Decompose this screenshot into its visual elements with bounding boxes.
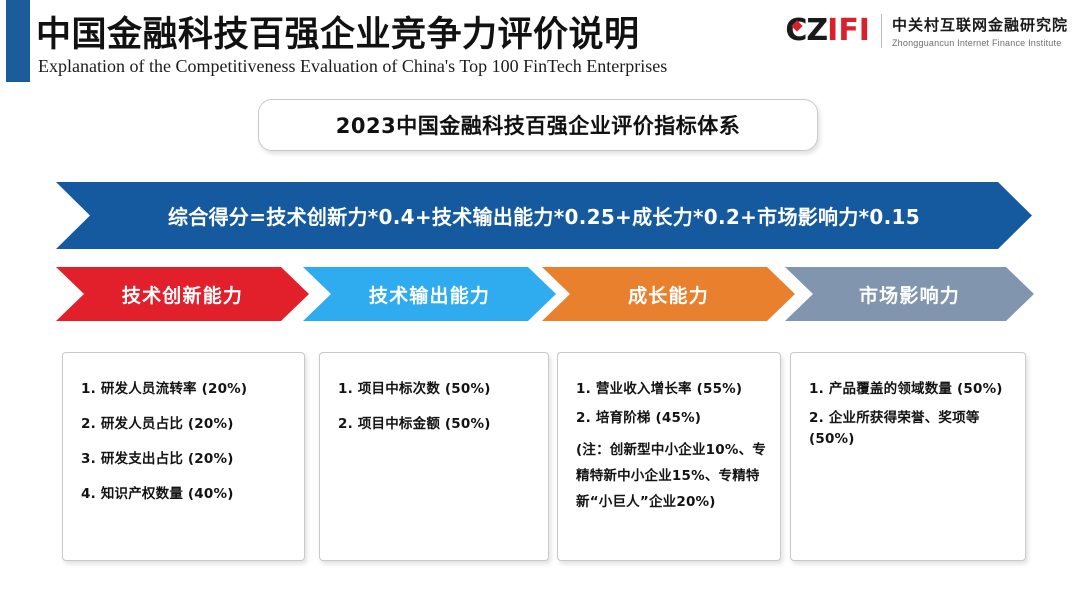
logo-letter-z: Z [806,16,827,46]
detail-box-growth: 1. 营业收入增长率 (55%) 2. 培育阶梯 (45%) (注：创新型中小企… [557,352,781,561]
category-chevron-market-influence[interactable]: 市场影响力 [785,267,1034,321]
category-chevron-growth[interactable]: 成长能力 [542,267,795,321]
detail-item: 1. 研发人员流转率 (20%) [81,379,290,400]
institute-logo: C Z IFI 中关村互联网金融研究院 Zhongguancun Interne… [785,10,1068,52]
detail-item: 1. 产品覆盖的领域数量 (50%) [809,379,1011,400]
czifi-logo-icon: C Z IFI [785,15,870,47]
category-chevron-tech-innovation[interactable]: 技术创新能力 [56,267,309,321]
logo-letters-ifi: IFI [827,16,870,46]
section-title-box: 2023中国金融科技百强企业评价指标体系 [258,99,818,151]
category-label: 技术输出能力 [369,281,490,308]
detail-item: 2. 培育阶梯 (45%) [576,408,766,429]
section-title-text: 2023中国金融科技百强企业评价指标体系 [336,110,740,140]
detail-item: 2. 企业所获得荣誉、奖项等 (50%) [809,408,1011,450]
page-title-chinese: 中国金融科技百强企业竞争力评价说明 [36,6,640,57]
page-title-english: Explanation of the Competitiveness Evalu… [38,56,667,77]
detail-box-tech-output: 1. 项目中标次数 (50%) 2. 项目中标金额 (50%) [319,352,549,561]
detail-item: 1. 营业收入增长率 (55%) [576,379,766,400]
header-accent-bar [6,0,30,82]
score-formula-text: 综合得分=技术创新力*0.4+技术输出能力*0.25+成长力*0.2+市场影响力… [168,201,920,230]
detail-item-note: (注：创新型中小企业10%、专精特新中小企业15%、专精特新“小巨人”企业20%… [576,437,766,516]
detail-item: 1. 项目中标次数 (50%) [338,379,534,400]
page-header: 中国金融科技百强企业竞争力评价说明 Explanation of the Com… [0,0,1080,86]
detail-box-market-influence: 1. 产品覆盖的领域数量 (50%) 2. 企业所获得荣誉、奖项等 (50%) [790,352,1026,561]
detail-item: 3. 研发支出占比 (20%) [81,449,290,470]
logo-name-english: Zhongguancun Internet Finance Institute [892,38,1068,48]
logo-divider [881,14,882,48]
detail-item: 2. 项目中标金额 (50%) [338,414,534,435]
category-chevron-tech-output[interactable]: 技术输出能力 [303,267,556,321]
category-label: 成长能力 [628,281,709,308]
score-formula-banner: 综合得分=技术创新力*0.4+技术输出能力*0.25+成长力*0.2+市场影响力… [56,182,1032,249]
logo-wordmark: 中关村互联网金融研究院 Zhongguancun Internet Financ… [892,14,1068,48]
category-label: 技术创新能力 [122,281,243,308]
detail-box-tech-innovation: 1. 研发人员流转率 (20%) 2. 研发人员占比 (20%) 3. 研发支出… [62,352,305,561]
detail-item: 4. 知识产权数量 (40%) [81,484,290,505]
category-label: 市场影响力 [859,281,960,308]
detail-item: 2. 研发人员占比 (20%) [81,414,290,435]
logo-name-chinese: 中关村互联网金融研究院 [892,14,1068,35]
